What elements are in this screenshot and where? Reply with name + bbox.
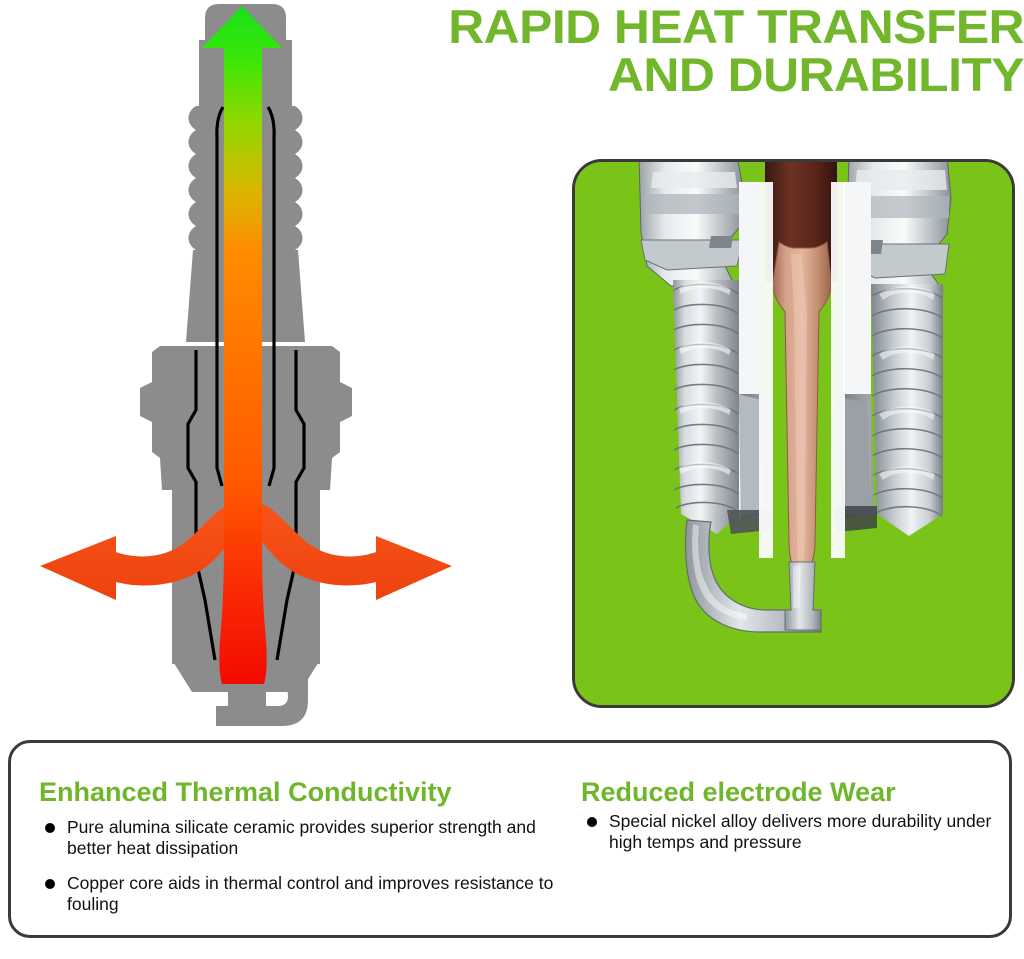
plug-right-half — [833, 162, 951, 536]
feature-title-electrode-wear: Reduced electrode Wear — [581, 777, 1001, 807]
feature-column-thermal-conductivity: Enhanced Thermal Conductivity Pure alumi… — [39, 777, 559, 929]
spark-plug-cutaway-photo — [572, 159, 1015, 708]
feature-bullets-electrode-wear: Special nickel alloy delivers more durab… — [581, 811, 1001, 853]
bullet-dot-icon — [45, 879, 55, 889]
list-item-text: Special nickel alloy delivers more durab… — [609, 811, 991, 852]
feature-title-thermal-conductivity: Enhanced Thermal Conductivity — [39, 777, 559, 807]
feature-bullets-thermal-conductivity: Pure alumina silicate ceramic provides s… — [39, 817, 559, 915]
list-item: Pure alumina silicate ceramic provides s… — [39, 817, 559, 859]
bullet-dot-icon — [45, 823, 55, 833]
list-item-text: Copper core aids in thermal control and … — [67, 873, 553, 914]
bullet-dot-icon — [587, 817, 597, 827]
spark-plug-heat-flow-diagram — [0, 0, 520, 740]
list-item: Copper core aids in thermal control and … — [39, 873, 559, 915]
list-item: Special nickel alloy delivers more durab… — [581, 811, 1001, 853]
features-panel: Enhanced Thermal Conductivity Pure alumi… — [8, 740, 1012, 938]
list-item-text: Pure alumina silicate ceramic provides s… — [67, 817, 536, 858]
feature-column-electrode-wear: Reduced electrode Wear Special nickel al… — [581, 777, 1001, 853]
